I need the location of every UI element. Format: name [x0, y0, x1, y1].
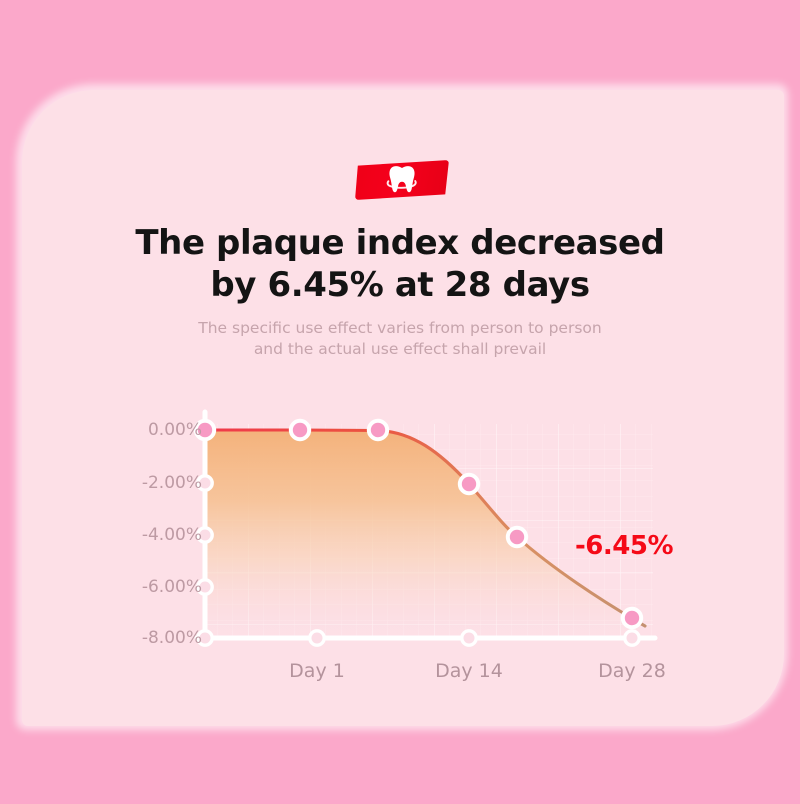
brand-logo-badge: [355, 160, 449, 200]
tooth-icon: [385, 165, 419, 195]
title-line-2: by 6.45% at 28 days: [0, 264, 800, 306]
title-line-1: The plaque index decreased: [0, 222, 800, 264]
page-subtitle: The specific use effect varies from pers…: [0, 318, 800, 360]
screenshot-root: The plaque index decreased by 6.45% at 2…: [0, 0, 800, 800]
subtitle-line-1: The specific use effect varies from pers…: [0, 318, 800, 339]
subtitle-line-2: and the actual use effect shall prevail: [0, 339, 800, 360]
page-title: The plaque index decreased by 6.45% at 2…: [0, 222, 800, 306]
